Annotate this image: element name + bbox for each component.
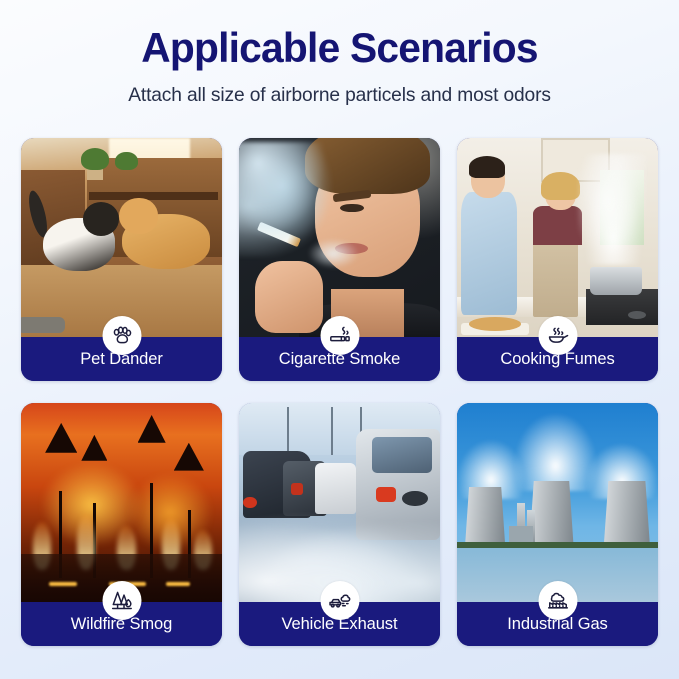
- plant-building: [509, 526, 533, 542]
- hand: [255, 261, 323, 333]
- tree-canopy-4: [174, 443, 204, 471]
- scenario-card-grid: Pet Dander: [21, 138, 658, 646]
- woman-hair: [541, 172, 579, 200]
- scene-cooling-towers-power-plant: [457, 403, 658, 602]
- cat-head: [83, 202, 119, 236]
- car-exhaust-icon: [320, 581, 359, 620]
- card-image-vehicle-exhaust: [239, 403, 440, 602]
- stove-burner: [628, 311, 646, 319]
- tree-canopy-3: [138, 415, 166, 443]
- card-image-pet-dander: [21, 138, 222, 337]
- page-title: Applicable Scenarios: [10, 26, 669, 71]
- plant-leaves-right: [115, 152, 137, 170]
- tail-light-1: [376, 487, 396, 503]
- cigarette-icon: [320, 316, 359, 355]
- scene-couple-cooking-in-kitchen: [457, 138, 658, 337]
- factory-smokestack-icon: [538, 581, 577, 620]
- tail-light-2: [291, 483, 303, 495]
- scenario-card-industrial-gas[interactable]: Industrial Gas: [457, 403, 658, 646]
- scene-forest-wildfire: [21, 403, 222, 602]
- scenario-card-cooking-fumes[interactable]: Cooking Fumes: [457, 138, 658, 381]
- cooling-tower-1: [465, 487, 505, 547]
- scenario-card-wildfire-smog[interactable]: Wildfire Smog: [21, 403, 222, 646]
- ember-3: [166, 582, 190, 586]
- card-image-industrial-gas: [457, 403, 658, 602]
- paw-print-icon: [102, 316, 141, 355]
- scenario-card-cigarette-smoke[interactable]: Cigarette Smoke: [239, 138, 440, 381]
- rear-window: [372, 437, 432, 473]
- tree-canopy-1: [45, 423, 77, 453]
- card-image-cigarette-smoke: [239, 138, 440, 337]
- scene-traffic-jam-with-fumes: [239, 403, 440, 602]
- utility-pole-2: [331, 407, 333, 455]
- floor-rug: [21, 317, 65, 333]
- card-image-cooking-fumes: [457, 138, 658, 337]
- steaming-pan-icon: [538, 316, 577, 355]
- cooling-tower-3: [604, 481, 650, 547]
- cooking-pot: [590, 267, 642, 295]
- burning-forest-icon: [102, 581, 141, 620]
- scene-cat-and-dog-in-living-room: [21, 138, 222, 337]
- scenario-card-vehicle-exhaust[interactable]: Vehicle Exhaust: [239, 403, 440, 646]
- woman-top: [533, 206, 581, 246]
- cooling-tower-2: [529, 481, 573, 547]
- man-hair: [469, 156, 505, 178]
- plant-leaves-left: [81, 148, 109, 170]
- dog-head: [119, 198, 157, 234]
- smoke-plume: [239, 142, 344, 257]
- card-image-wildfire-smog: [21, 403, 222, 602]
- cooking-steam: [578, 154, 646, 265]
- scenario-card-pet-dander[interactable]: Pet Dander: [21, 138, 222, 381]
- page-subtitle: Attach all size of airborne particels an…: [5, 84, 674, 107]
- bread-loaf: [469, 317, 521, 331]
- scene-man-smoking-cigarette: [239, 138, 440, 337]
- man-shirt: [461, 192, 517, 315]
- ember-1: [49, 582, 77, 586]
- shelf: [89, 192, 218, 200]
- page-header: Applicable Scenarios Attach all size of …: [0, 0, 679, 107]
- tree-canopy-2: [81, 435, 107, 461]
- utility-pole-1: [287, 407, 289, 455]
